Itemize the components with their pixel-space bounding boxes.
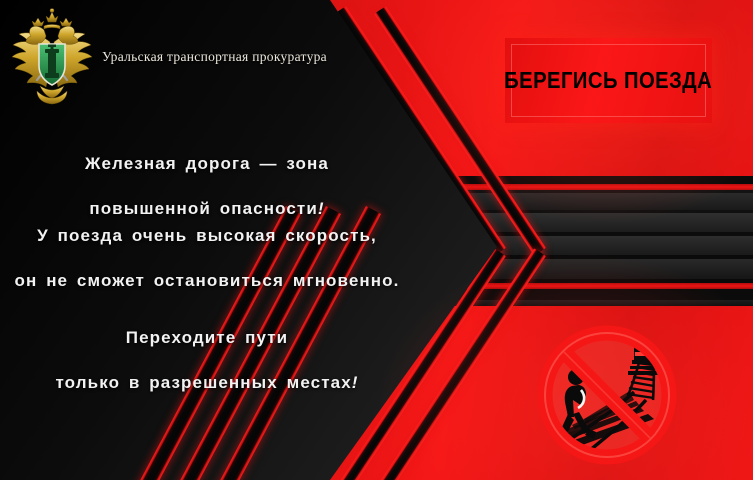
message-cross-properly-mark: ! xyxy=(352,373,359,392)
message-cross-properly-line2: только в разрешенных местах xyxy=(55,373,351,392)
message-danger-zone-line1: Железная дорога — зона xyxy=(85,154,329,173)
russian-prosecutor-eagle-emblem-icon xyxy=(10,8,94,106)
message-train-speed-line1: У поезда очень высокая скорость, xyxy=(37,226,377,245)
beware-of-train-banner: БЕРЕГИСЬ ПОЕЗДА xyxy=(505,38,712,123)
safety-poster: Уральская транспортная прокуратура БЕРЕГ… xyxy=(0,0,753,480)
no-crossing-railway-tracks-icon xyxy=(528,322,686,468)
organisation-header: Уральская транспортная прокуратура xyxy=(10,8,327,106)
message-train-speed: У поезда очень высокая скорость, он не с… xyxy=(0,203,414,293)
message-cross-properly-line1: Переходите пути xyxy=(126,328,288,347)
banner-text: БЕРЕГИСЬ ПОЕЗДА xyxy=(505,67,713,94)
organisation-name: Уральская транспортная прокуратура xyxy=(102,49,327,65)
message-train-speed-mark: . xyxy=(394,271,400,290)
message-train-speed-line2: он не сможет остановиться мгновенно xyxy=(15,271,394,290)
message-cross-properly: Переходите пути только в разрешенных мес… xyxy=(0,305,414,395)
